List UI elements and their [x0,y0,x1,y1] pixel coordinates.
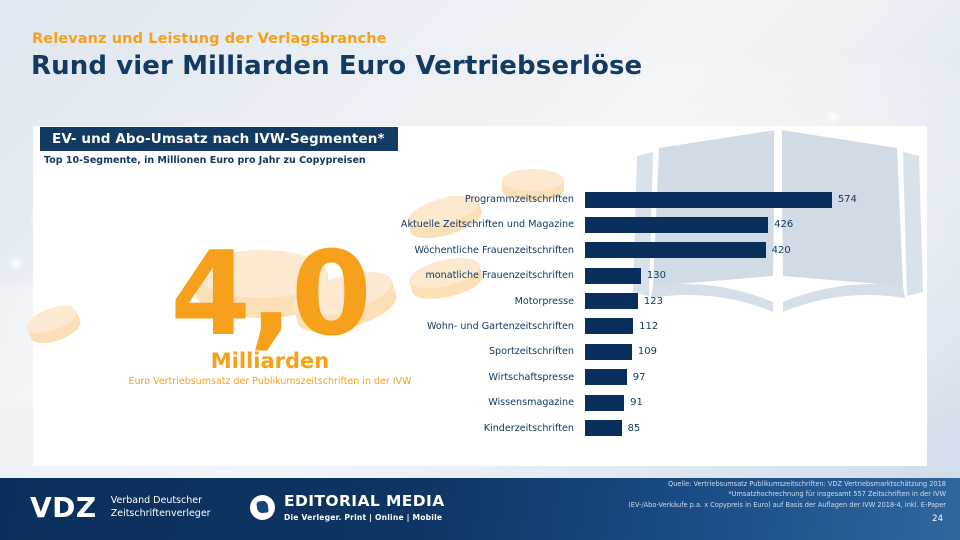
bar-fill [585,318,633,334]
bar-category-label: Aktuelle Zeitschriften und Magazine [380,219,585,230]
vdz-subtitle: Verband Deutscher Zeitschriftenverleger [111,495,211,521]
page-number: 24 [932,514,943,524]
bar-row: Wissensmagazine91 [380,393,900,412]
source-line-2: *Umsatzhochrechnung für insgesamt 557 Ze… [628,489,946,499]
bar-row: Aktuelle Zeitschriften und Magazine426 [380,215,900,234]
bar-value-label: 91 [624,397,643,408]
bar-fill [585,344,632,360]
bar-value-label: 420 [766,245,791,256]
bar-track: 91 [585,395,900,411]
bar-fill [585,268,641,284]
source-line-3: (EV-/Abo-Verkäufe p.a. x Copypreis in Eu… [628,500,946,510]
chart-title-bar: EV- und Abo-Umsatz nach IVW-Segmenten* [40,127,398,151]
bar-fill [585,293,638,309]
vdz-wordmark: VDZ [30,494,97,522]
bar-fill [585,420,622,436]
chart-title: EV- und Abo-Umsatz nach IVW-Segmenten* [52,131,385,147]
chart-subtitle: Top 10-Segmente, in Millionen Euro pro J… [44,155,366,166]
bar-row: Wohn- und Gartenzeitschriften112 [380,317,900,336]
bar-value-label: 123 [638,296,663,307]
editorial-media-title: EDITORIAL MEDIA [284,494,445,510]
vdz-subtitle-line2: Zeitschriftenverleger [111,508,211,521]
bar-category-label: Wissensmagazine [380,397,585,408]
bar-track: 130 [585,268,900,284]
bar-category-label: Wirtschaftspresse [380,372,585,383]
editorial-media-logo: EDITORIAL MEDIA Die Verleger. Print | On… [250,494,445,522]
bar-track: 420 [585,242,900,258]
bar-category-label: monatliche Frauenzeitschriften [380,270,585,281]
bar-category-label: Wohn- und Gartenzeitschriften [380,321,585,332]
bar-track: 97 [585,369,900,385]
source-line-1: Quelle: Vertriebsumsatz Publikumszeitsch… [628,479,946,489]
bar-row: Kinderzeitschriften85 [380,419,900,438]
bokeh-dot [8,255,24,271]
source-note: Quelle: Vertriebsumsatz Publikumszeitsch… [628,479,946,510]
coin-icon [24,300,84,350]
bar-category-label: Sportzeitschriften [380,346,585,357]
bar-row: Motorpresse123 [380,292,900,311]
bar-fill [585,242,766,258]
bar-value-label: 112 [633,321,658,332]
bar-fill [585,217,768,233]
bokeh-dot [826,110,840,124]
editorial-media-badge-icon [250,495,275,520]
bar-fill [585,395,624,411]
vdz-logo: VDZ Verband Deutscher Zeitschriftenverle… [30,494,211,522]
bar-value-label: 574 [832,194,857,205]
editorial-media-tagline: Die Verleger. Print | Online | Mobile [284,513,445,522]
bar-category-label: Programmzeitschriften [380,194,585,205]
bar-category-label: Motorpresse [380,296,585,307]
bar-fill [585,192,832,208]
bar-row: Wirtschaftspresse97 [380,368,900,387]
editorial-media-text: EDITORIAL MEDIA Die Verleger. Print | On… [284,494,445,522]
bar-track: 123 [585,293,900,309]
bar-track: 109 [585,344,900,360]
bar-value-label: 97 [627,372,646,383]
slide-kicker: Relevanz und Leistung der Verlagsbranche [32,31,387,47]
slide-root: Relevanz und Leistung der Verlagsbranche… [0,0,960,540]
bar-chart: Programmzeitschriften574Aktuelle Zeitsch… [380,190,900,444]
bar-track: 574 [585,192,900,208]
bar-row: monatliche Frauenzeitschriften130 [380,266,900,285]
bar-row: Wöchentliche Frauenzeitschriften420 [380,241,900,260]
bar-row: Sportzeitschriften109 [380,342,900,361]
bar-track: 426 [585,217,900,233]
bar-fill [585,369,627,385]
bar-track: 112 [585,318,900,334]
slide-headline: Rund vier Milliarden Euro Vertriebserlös… [31,51,642,81]
bar-track: 85 [585,420,900,436]
bar-row: Programmzeitschriften574 [380,190,900,209]
bar-category-label: Wöchentliche Frauenzeitschriften [380,245,585,256]
bar-value-label: 130 [641,270,666,281]
bar-value-label: 85 [622,423,641,434]
bar-category-label: Kinderzeitschriften [380,423,585,434]
vdz-subtitle-line1: Verband Deutscher [111,495,211,508]
bar-value-label: 426 [768,219,793,230]
bar-value-label: 109 [632,346,657,357]
